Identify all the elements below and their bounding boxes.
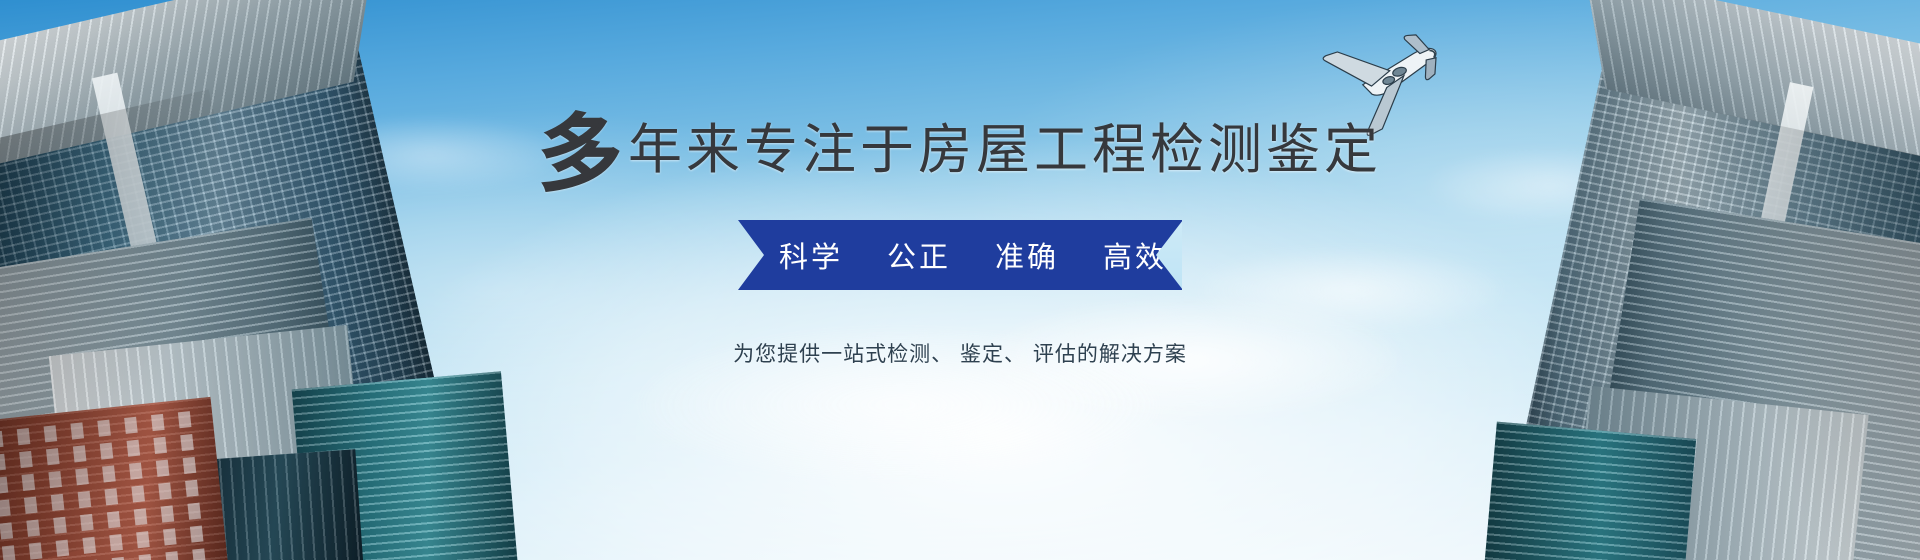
page-title: 多 年来专注于房屋工程检测鉴定: [538, 108, 1382, 192]
hero-banner: 多 年来专注于房屋工程检测鉴定 科学 公正 准确 高效 为您提供一站式检测、 鉴…: [0, 0, 1920, 560]
slogan-item-3: 准确: [995, 234, 1059, 276]
slogan-list: 科学 公正 准确 高效: [753, 234, 1167, 276]
banner-content: 多 年来专注于房屋工程检测鉴定 科学 公正 准确 高效 为您提供一站式检测、 鉴…: [0, 0, 1920, 560]
headline-lead-character: 多: [538, 112, 624, 196]
slogan-item-2: 公正: [887, 234, 951, 276]
headline-rest: 年来专注于房屋工程检测鉴定: [628, 123, 1382, 177]
slogan-ribbon: 科学 公正 准确 高效: [738, 220, 1182, 290]
page-subtitle: 为您提供一站式检测、 鉴定、 评估的解决方案: [733, 338, 1187, 368]
slogan-item-1: 科学: [779, 234, 843, 276]
ribbon-right-notch: [1156, 220, 1183, 290]
